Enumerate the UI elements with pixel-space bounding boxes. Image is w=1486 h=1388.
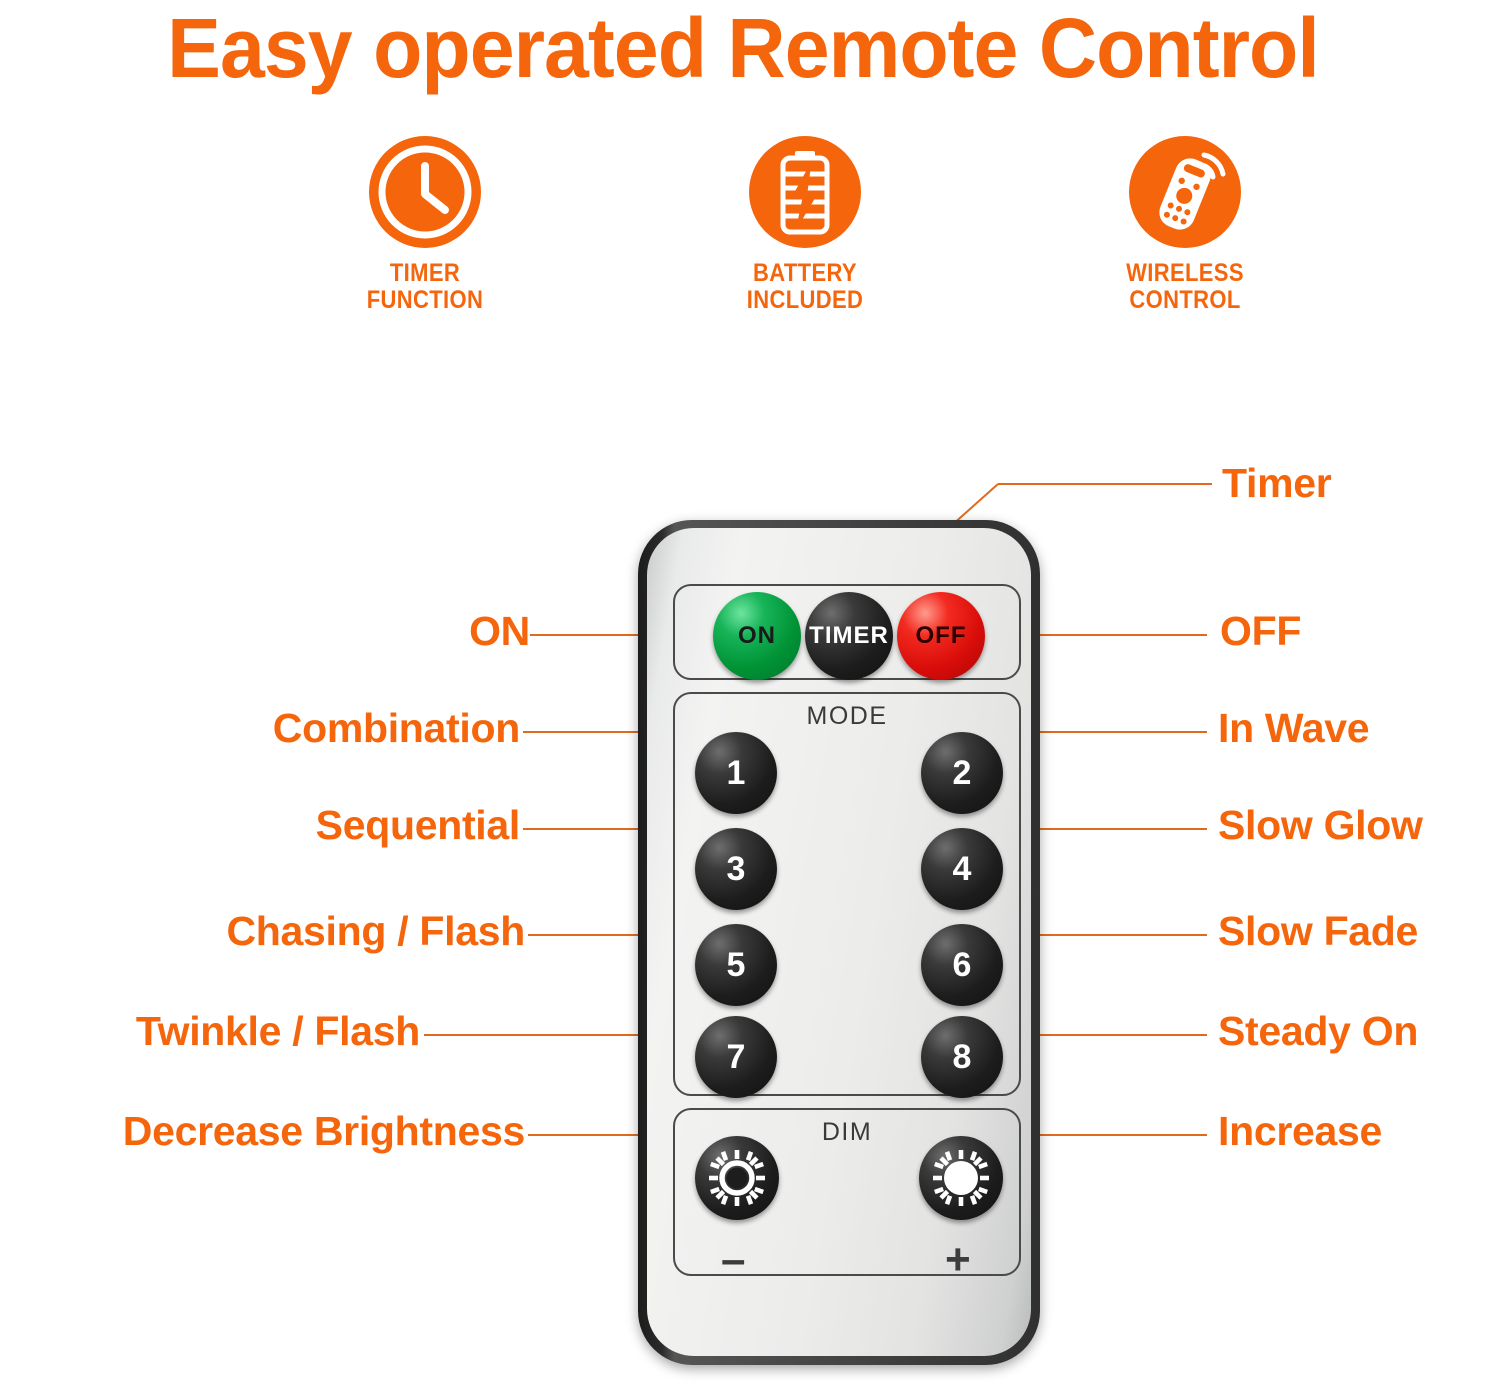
remote-signal-icon: [1129, 136, 1241, 248]
mode-1-label: 1: [727, 754, 746, 793]
mode-5-label: 5: [727, 946, 746, 985]
feature-label-line2: INCLUDED: [747, 286, 863, 314]
on-button-label: ON: [738, 622, 776, 650]
dim-minus-button[interactable]: [695, 1136, 779, 1220]
callout-in-wave: In Wave: [1218, 705, 1369, 751]
feature-label-line2: CONTROL: [1129, 286, 1240, 314]
feature-battery-included: BATTERY INCLUDED: [675, 136, 935, 314]
feature-label: BATTERY INCLUDED: [691, 260, 920, 314]
dim-plus-button[interactable]: [919, 1136, 1003, 1220]
mode-6-label: 6: [953, 946, 972, 985]
timer-button-label: TIMER: [809, 622, 889, 650]
page-title: Easy operated Remote Control: [30, 2, 1457, 94]
timer-button[interactable]: TIMER: [805, 592, 893, 680]
dim-panel: DIM: [673, 1108, 1021, 1276]
remote-signal-icon-svg: [1129, 136, 1241, 248]
mode-caption: MODE: [675, 702, 1019, 731]
callout-decrease-brightness: Decrease Brightness: [10, 1108, 525, 1154]
callout-slow-glow: Slow Glow: [1218, 802, 1423, 848]
mode-8-label: 8: [953, 1038, 972, 1077]
clock-icon: [369, 136, 481, 248]
feature-label: WIRELESS CONTROL: [1071, 260, 1300, 314]
callout-slow-fade: Slow Fade: [1218, 908, 1418, 954]
callout-increase: Increase: [1218, 1108, 1382, 1154]
mode-2-button[interactable]: 2: [921, 732, 1003, 814]
on-button[interactable]: ON: [713, 592, 801, 680]
mode-1-button[interactable]: 1: [695, 732, 777, 814]
feature-label-line2: FUNCTION: [367, 286, 483, 314]
feature-wireless-control: WIRELESS CONTROL: [1055, 136, 1315, 314]
mode-4-label: 4: [953, 850, 972, 889]
feature-label: TIMER FUNCTION: [311, 260, 540, 314]
dim-plus-sign: +: [945, 1238, 971, 1282]
mode-2-label: 2: [953, 754, 972, 793]
dim-minus-sign: –: [721, 1238, 745, 1282]
mode-7-label: 7: [727, 1038, 746, 1077]
callout-steady-on: Steady On: [1218, 1008, 1418, 1054]
mode-8-button[interactable]: 8: [921, 1016, 1003, 1098]
off-button[interactable]: OFF: [897, 592, 985, 680]
feature-label-line1: WIRELESS: [1126, 259, 1244, 287]
callout-chasing-flash: Chasing / Flash: [100, 908, 525, 954]
battery-icon: [749, 136, 861, 248]
callout-twinkle-flash: Twinkle / Flash: [100, 1008, 420, 1054]
mode-3-button[interactable]: 3: [695, 828, 777, 910]
brightness-high-icon: [930, 1147, 992, 1209]
remote-control-device: ON TIMER OFF MODE 1 2 3 4 5 6: [638, 520, 1040, 1365]
mode-3-label: 3: [727, 850, 746, 889]
mode-6-button[interactable]: 6: [921, 924, 1003, 1006]
brightness-low-icon: [706, 1147, 768, 1209]
feature-timer-function: TIMER FUNCTION: [295, 136, 555, 314]
mode-5-button[interactable]: 5: [695, 924, 777, 1006]
callout-timer: Timer: [1222, 460, 1331, 506]
callout-off: OFF: [1220, 608, 1301, 654]
callout-on: ON: [230, 608, 530, 654]
callout-combination: Combination: [120, 705, 520, 751]
clock-icon-svg: [369, 136, 481, 248]
off-button-label: OFF: [916, 622, 967, 650]
mode-7-button[interactable]: 7: [695, 1016, 777, 1098]
mode-4-button[interactable]: 4: [921, 828, 1003, 910]
remote-face: ON TIMER OFF MODE 1 2 3 4 5 6: [647, 528, 1031, 1356]
battery-icon-svg: [749, 136, 861, 248]
mode-panel: MODE 1 2 3 4 5 6 7 8: [673, 692, 1021, 1096]
feature-label-line1: TIMER: [390, 259, 460, 287]
feature-label-line1: BATTERY: [753, 259, 857, 287]
power-panel: ON TIMER OFF: [673, 584, 1021, 680]
callout-sequential: Sequential: [120, 802, 520, 848]
